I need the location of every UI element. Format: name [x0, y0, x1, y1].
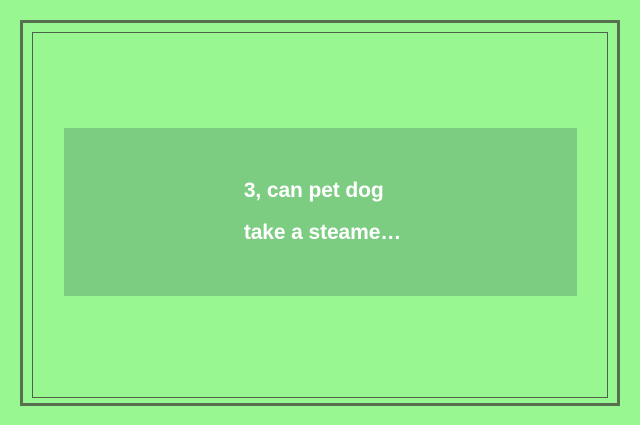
page-canvas: 3, can pet dog take a steame… — [0, 0, 640, 425]
card-text-line-1: 3, can pet dog — [244, 170, 401, 212]
content-card[interactable]: 3, can pet dog take a steame… — [64, 128, 577, 296]
card-text-block: 3, can pet dog take a steame… — [240, 170, 401, 254]
card-text-line-2: take a steame… — [244, 212, 401, 254]
